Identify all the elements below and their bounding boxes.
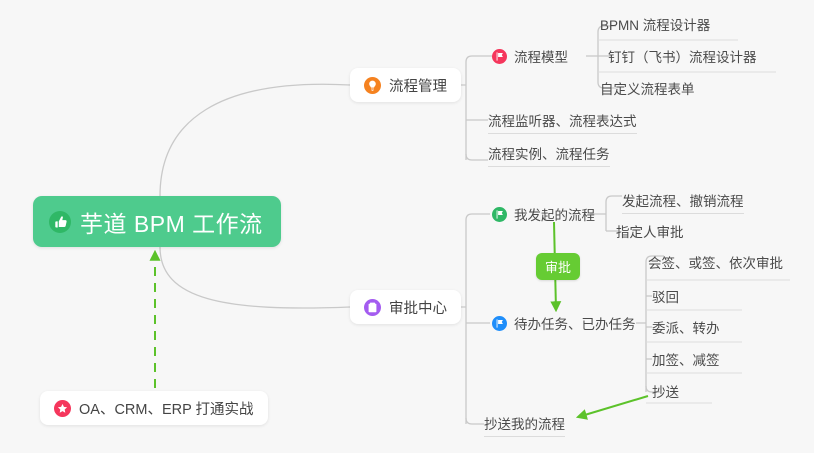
node-cc-to-me-process[interactable]: 抄送我的流程 [484,409,565,437]
clipboard-icon [364,299,381,316]
branch-flow-management-label: 流程管理 [389,75,447,96]
thumbs-up-icon [49,211,71,233]
node-custom-form-label: 自定义流程表单 [600,78,695,98]
node-todo-done-tasks[interactable]: 待办任务、已办任务 [492,309,636,337]
mindmap-canvas: 芋道 BPM 工作流 流程管理 流程模型 BPMN 流程设计器 钉钉（飞书）流程… [0,0,814,453]
lightbulb-icon [364,77,381,94]
node-countersign-label: 会签、或签、依次审批 [648,252,783,272]
node-delegate-transfer[interactable]: 委派、转办 [652,313,720,341]
node-cc-to-me-process-label: 抄送我的流程 [484,413,565,433]
root-node[interactable]: 芋道 BPM 工作流 [33,196,281,247]
node-listener-expression[interactable]: 流程监听器、流程表达式 [488,106,637,134]
branch-approval-center[interactable]: 审批中心 [350,290,461,324]
node-countersign[interactable]: 会签、或签、依次审批 [648,248,783,276]
node-listener-expression-label: 流程监听器、流程表达式 [488,110,637,130]
flag-green-icon [492,207,507,222]
bottom-note-integration[interactable]: OA、CRM、ERP 打通实战 [40,391,268,425]
node-instance-task-label: 流程实例、流程任务 [488,143,610,163]
branch-approval-center-label: 审批中心 [389,297,447,318]
node-start-cancel-process-label: 发起流程、撤销流程 [622,190,744,210]
approval-badge: 审批 [536,253,580,280]
node-bpmn-designer[interactable]: BPMN 流程设计器 [600,10,710,38]
node-delegate-transfer-label: 委派、转办 [652,317,720,337]
node-custom-form[interactable]: 自定义流程表单 [600,74,695,102]
flag-blue-icon [492,316,507,331]
node-assigned-approver-label: 指定人审批 [616,221,684,241]
node-todo-done-tasks-label: 待办任务、已办任务 [514,313,636,333]
node-my-started-process[interactable]: 我发起的流程 [492,200,595,228]
node-cc-label: 抄送 [652,381,679,401]
node-my-started-process-label: 我发起的流程 [514,204,595,224]
node-bpmn-designer-label: BPMN 流程设计器 [600,14,710,34]
node-process-model-label: 流程模型 [514,46,568,66]
node-reject-label: 驳回 [652,286,679,306]
arrow-cc-flow [578,396,648,417]
node-start-cancel-process[interactable]: 发起流程、撤销流程 [622,186,744,214]
node-add-remove-sign[interactable]: 加签、减签 [652,345,720,373]
flag-red-icon [492,49,507,64]
branch-flow-management[interactable]: 流程管理 [350,68,461,102]
node-process-model[interactable]: 流程模型 [492,42,568,70]
node-assigned-approver[interactable]: 指定人审批 [616,217,684,245]
root-label: 芋道 BPM 工作流 [80,205,263,239]
star-icon [54,400,71,417]
node-dingtalk-designer-label: 钉钉（飞书）流程设计器 [608,46,757,66]
bottom-note-label: OA、CRM、ERP 打通实战 [79,398,254,419]
node-dingtalk-designer[interactable]: 钉钉（飞书）流程设计器 [608,42,757,70]
node-add-remove-sign-label: 加签、减签 [652,349,720,369]
node-instance-task[interactable]: 流程实例、流程任务 [488,139,610,167]
node-cc[interactable]: 抄送 [652,377,679,405]
node-reject[interactable]: 驳回 [652,282,679,310]
